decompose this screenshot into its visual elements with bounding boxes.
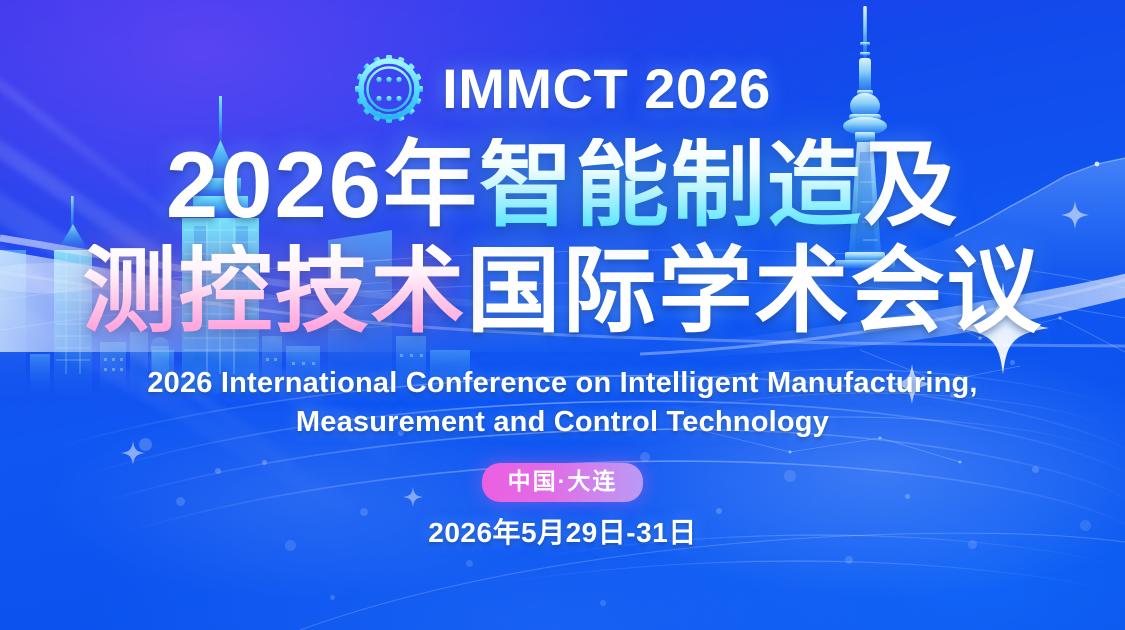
gear-circuit-icon [354, 54, 424, 124]
logo-row: IMMCT 2026 [354, 54, 771, 124]
headline-line-2: 测控技术国际学术会议 [82, 244, 1042, 338]
conference-banner: IMMCT 2026 2026年智能制造及 测控技术国际学术会议 2026 In… [0, 0, 1125, 630]
headline-segment: 及 [863, 138, 959, 232]
headline-segment: 国际学术会议 [467, 244, 1043, 338]
subtitle-line-1: 2026 International Conference on Intelli… [147, 364, 977, 403]
headline-segment: 2026年 [166, 138, 479, 232]
logo-text: IMMCT 2026 [442, 61, 771, 117]
headline-segment: 智能制造 [479, 138, 863, 232]
location-badge: 中国·大连 [482, 463, 644, 502]
headline-segment: 测控技术 [82, 244, 466, 338]
conference-date: 2026年5月29日-31日 [428, 519, 696, 547]
english-subtitle: 2026 International Conference on Intelli… [147, 364, 977, 442]
subtitle-line-2: Measurement and Control Technology [147, 403, 977, 442]
headline-line-1: 2026年智能制造及 [166, 138, 959, 232]
